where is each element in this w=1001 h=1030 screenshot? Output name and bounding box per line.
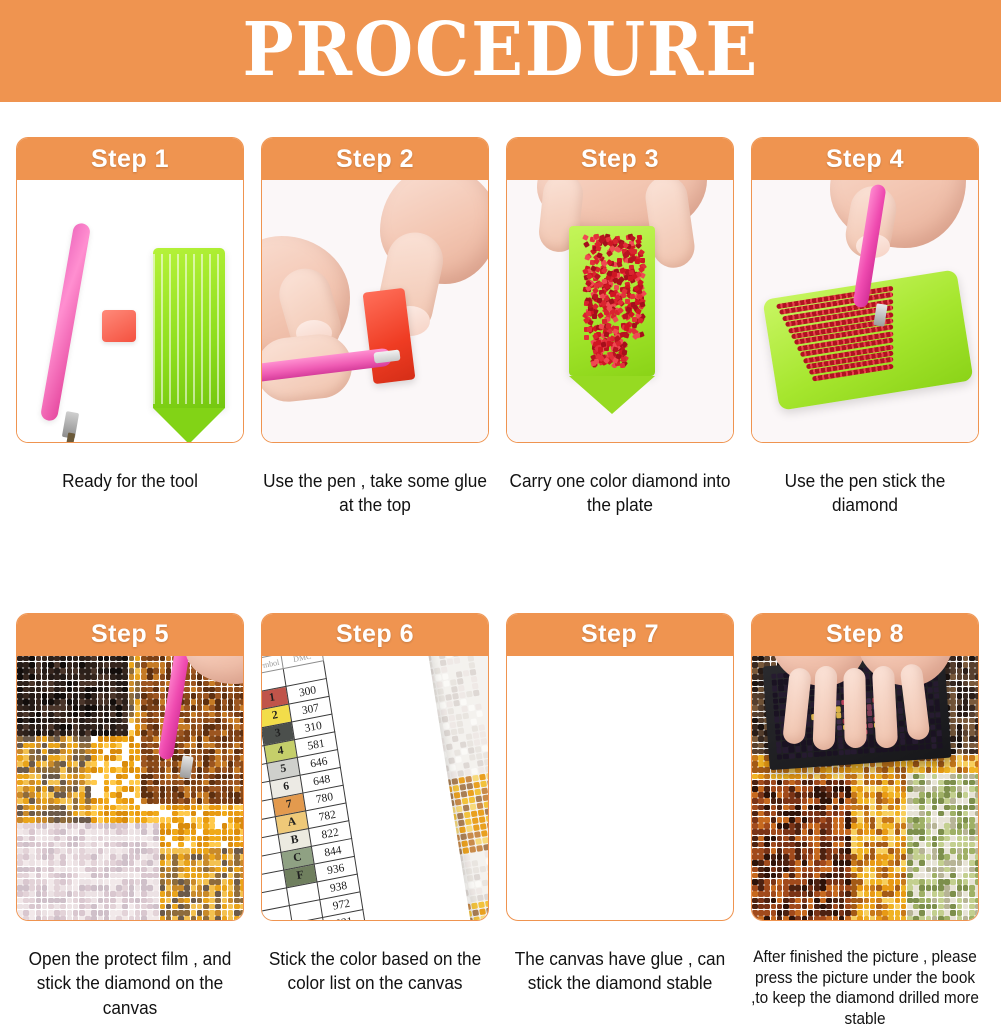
diamond-cell (42, 848, 48, 854)
canvas-cell (471, 725, 478, 732)
diamond-cell (771, 879, 777, 885)
diamond-cell (23, 681, 29, 687)
diamond-cell (913, 836, 919, 842)
diamond-cell (771, 891, 777, 897)
diamond-cell (783, 786, 789, 792)
diamond-cell (172, 860, 178, 866)
canvas-cell (461, 705, 468, 712)
diamond-cell (42, 755, 48, 761)
diamond-cell (209, 885, 215, 891)
diamond-cell (752, 681, 758, 687)
diamond-cell (48, 805, 54, 811)
page-title: PROCEDURE (242, 13, 759, 87)
diamond-cell (752, 656, 758, 662)
diamond-cell (36, 805, 42, 811)
diamond-cell (129, 687, 135, 693)
diamond-cell (771, 798, 777, 804)
diamond-cell (67, 712, 73, 718)
step-7-header: Step 7 (507, 614, 733, 656)
diamond-cell (85, 867, 91, 873)
diamond-cell (23, 836, 29, 842)
diamond-cell (833, 854, 839, 860)
diamond-cell (160, 910, 166, 916)
canvas-cell (483, 886, 488, 893)
diamond-cell (814, 805, 820, 811)
diamond-cell (23, 668, 29, 674)
diamond-cell (203, 724, 209, 730)
diamond-cell (864, 836, 870, 842)
diamond-cell (764, 867, 770, 873)
diamond-cell (932, 811, 938, 817)
diamond-cell (91, 662, 97, 668)
diamond-cell (29, 898, 35, 904)
diamond-cell (184, 687, 190, 693)
canvas-cell (481, 830, 488, 837)
diamond-cell (222, 693, 228, 699)
diamond-cell (17, 699, 23, 705)
diamond-cell (228, 823, 234, 829)
diamond-cell (888, 792, 894, 798)
diamond-cell (919, 848, 925, 854)
diamond-cell (91, 730, 97, 736)
diamond-cell (166, 867, 172, 873)
diamond-cell (110, 829, 116, 835)
diamond-cell (197, 718, 203, 724)
diamond-cell (178, 898, 184, 904)
diamond-cell (141, 755, 147, 761)
diamond-cell (73, 656, 79, 662)
diamond-cell (191, 898, 197, 904)
canvas-cell (467, 740, 474, 747)
diamond-cell (122, 891, 128, 897)
diamond-cell (197, 860, 203, 866)
diamond-cell (240, 879, 243, 885)
diamond-cell (48, 891, 54, 897)
diamond-cell (802, 786, 808, 792)
canvas-cell (464, 769, 471, 776)
diamond-cell (122, 718, 128, 724)
diamond-cell (147, 780, 153, 786)
canvas-cell (472, 682, 479, 689)
diamond-cell (814, 885, 820, 891)
diamond-cell (938, 817, 944, 823)
diamond-cell (91, 811, 97, 817)
diamond-cell (963, 879, 969, 885)
diamond-cell (926, 842, 932, 848)
step-card-4: Step 4 Use the pen stick the diamond (751, 137, 979, 518)
diamond-cell (950, 867, 956, 873)
diamond-cell (178, 811, 184, 817)
diamond-cell (963, 811, 969, 817)
diamond-cell (820, 836, 826, 842)
diamond-cell (23, 786, 29, 792)
step-4-illustration (752, 180, 978, 442)
step-8-card: Step 8 (751, 613, 979, 921)
diamond-cell (184, 873, 190, 879)
diamond-cell (42, 798, 48, 804)
diamond-cell (771, 805, 777, 811)
diamond-cell (203, 879, 209, 885)
diamond-cell (963, 693, 969, 699)
diamond-cell (215, 687, 221, 693)
diamond-cell (129, 842, 135, 848)
diamond-cell (932, 767, 938, 773)
diamond-cell (104, 904, 110, 910)
canvas-cell (486, 772, 488, 779)
step-7-wrap: Step 7 (507, 614, 733, 656)
diamond-cell (975, 805, 978, 811)
step-6-card: Step 6 SerialSymbolDMC121300323074331054… (261, 613, 489, 921)
diamond-cell (758, 867, 764, 873)
diamond-cell (153, 674, 159, 680)
diamond-cell (79, 718, 85, 724)
diamond-cell (808, 836, 814, 842)
diamond-cell (839, 842, 845, 848)
diamond-cell (147, 687, 153, 693)
diamond-cell (771, 780, 777, 786)
diamond-cell (857, 879, 863, 885)
diamond-cell (228, 730, 234, 736)
diamond-cell (23, 693, 29, 699)
diamond-cell (135, 829, 141, 835)
canvas-cell (461, 791, 468, 798)
diamond-cell (228, 898, 234, 904)
diamond-cell (36, 910, 42, 916)
diamond-cell (116, 786, 122, 792)
step-7-caption: The canvas have glue , can stick the dia… (506, 947, 735, 996)
diamond-cell (135, 848, 141, 854)
diamond-cell (777, 842, 783, 848)
diamond-cell (122, 743, 128, 749)
diamond-cell (135, 767, 141, 773)
diamond-cell (938, 873, 944, 879)
diamond-cell (938, 867, 944, 873)
diamond-cell (23, 662, 29, 668)
diamond-cell (141, 792, 147, 798)
diamond-cell (950, 854, 956, 860)
diamond-cell (36, 885, 42, 891)
diamond-cell (141, 910, 147, 916)
diamond-cell (234, 749, 240, 755)
diamond-cell (240, 699, 243, 705)
diamond-cell (147, 898, 153, 904)
diamond-cell (104, 848, 110, 854)
diamond-cell (141, 681, 147, 687)
diamond-cell (969, 836, 975, 842)
diamond-cell (17, 712, 23, 718)
diamond-cell (141, 687, 147, 693)
diamond-cell (172, 891, 178, 897)
diamond-cell (857, 798, 863, 804)
diamond-cell (23, 699, 29, 705)
diamond-cell (795, 780, 801, 786)
diamond-cell (166, 873, 172, 879)
diamond-cell (963, 767, 969, 773)
diamond-cell (42, 904, 48, 910)
diamond-cell (91, 674, 97, 680)
diamond-cell (60, 854, 66, 860)
diamond-cell (222, 867, 228, 873)
diamond-cell (944, 823, 950, 829)
diamond-cell (166, 767, 172, 773)
canvas-cell (470, 761, 477, 768)
diamond-cell (36, 705, 42, 711)
loose-diamonds-icon (577, 232, 647, 368)
canvas-cell (463, 854, 470, 861)
diamond-cell (926, 805, 932, 811)
diamond-cell (29, 761, 35, 767)
diamond-cell (17, 898, 23, 904)
diamond-cell (802, 885, 808, 891)
canvas-cell (479, 865, 486, 872)
diamond-cell (29, 904, 35, 910)
diamond-cell (870, 767, 876, 773)
diamond-cell (184, 904, 190, 910)
diamond-cell (23, 674, 29, 680)
diamond-cell (758, 718, 764, 724)
diamond-cell (857, 811, 863, 817)
diamond-cell (191, 774, 197, 780)
diamond-cell (141, 718, 147, 724)
diamond-cell (73, 674, 79, 680)
diamond-cell (209, 848, 215, 854)
diamond-cell (79, 786, 85, 792)
diamond-cell (808, 823, 814, 829)
diamond-cell (975, 842, 978, 848)
diamond-cell (135, 854, 141, 860)
diamond-cell (882, 780, 888, 786)
diamond-cell (23, 811, 29, 817)
diamond-cell (926, 786, 932, 792)
diamond-cell (17, 829, 23, 835)
diamond-cell (191, 823, 197, 829)
diamond-cell (845, 798, 851, 804)
diamond-cell (23, 730, 29, 736)
step-card-8: Step 8 After finished the picture , plea… (751, 613, 979, 1030)
diamond-cell (895, 867, 901, 873)
diamond-cell (209, 792, 215, 798)
diamond-cell (240, 755, 243, 761)
diamond-cell (808, 780, 814, 786)
diamond-cell (222, 730, 228, 736)
diamond-cell (104, 885, 110, 891)
diamond-cell (795, 891, 801, 897)
diamond-cell (876, 879, 882, 885)
diamond-cell (54, 767, 60, 773)
diamond-cell (950, 767, 956, 773)
diamond-cell (950, 829, 956, 835)
diamond-cell (907, 842, 913, 848)
diamond-cell (895, 774, 901, 780)
diamond-cell (191, 736, 197, 742)
diamond-cell (957, 761, 963, 767)
diamond-cell (833, 873, 839, 879)
diamond-cell (851, 885, 857, 891)
diamond-cell (153, 662, 159, 668)
diamond-cell (197, 867, 203, 873)
diamond-cell (752, 798, 758, 804)
diamond-cell (833, 798, 839, 804)
diamond-cell (23, 867, 29, 873)
diamond-cell (228, 879, 234, 885)
diamond-cell (116, 743, 122, 749)
diamond-cell (215, 904, 221, 910)
diamond-cell (752, 730, 758, 736)
diamond-cell (209, 817, 215, 823)
diamond-cell (203, 699, 209, 705)
diamond-cell (240, 718, 243, 724)
diamond-cell (42, 867, 48, 873)
diamond-cell (963, 854, 969, 860)
diamond-cell (771, 786, 777, 792)
diamond-cell (826, 867, 832, 873)
diamond-cell (23, 910, 29, 916)
canvas-cell (482, 837, 488, 844)
diamond-cell (777, 848, 783, 854)
diamond-cell (752, 885, 758, 891)
diamond-cell (882, 817, 888, 823)
diamond-cell (975, 767, 978, 773)
diamond-cell (141, 699, 147, 705)
diamond-cell (67, 885, 73, 891)
diamond-cell (98, 811, 104, 817)
diamond-cell (116, 873, 122, 879)
diamond-cell (938, 774, 944, 780)
diamond-cell (870, 891, 876, 897)
diamond-cell (172, 823, 178, 829)
diamond-cell (48, 879, 54, 885)
diamond-cell (864, 829, 870, 835)
diamond-cell (209, 724, 215, 730)
diamond-drill (625, 299, 630, 304)
diamond-cell (758, 854, 764, 860)
diamond-cell (826, 823, 832, 829)
step-2-image (262, 180, 488, 442)
diamond-cell (901, 811, 907, 817)
diamond-cell (116, 792, 122, 798)
diamond-cell (957, 829, 963, 835)
diamond-cell (203, 730, 209, 736)
diamond-cell (215, 879, 221, 885)
diamond-cell (54, 916, 60, 920)
diamond-cell (938, 860, 944, 866)
diamond-cell (222, 712, 228, 718)
diamond-cell (197, 811, 203, 817)
diamond-cell (60, 780, 66, 786)
diamond-cell (36, 761, 42, 767)
diamond-cell (228, 724, 234, 730)
diamond-cell (36, 916, 42, 920)
canvas-cell (462, 797, 469, 804)
canvas-cell (449, 764, 456, 771)
canvas-cell (456, 763, 463, 770)
diamond-cell (957, 668, 963, 674)
canvas-cell (473, 732, 480, 739)
diamond-cell (184, 898, 190, 904)
diamond-cell (963, 718, 969, 724)
diamond-cell (91, 836, 97, 842)
diamond-cell (882, 860, 888, 866)
diamond-cell (42, 656, 48, 662)
diamond-cell (191, 873, 197, 879)
canvas-cell (485, 765, 488, 772)
diamond-cell (203, 811, 209, 817)
diamond-cell (122, 885, 128, 891)
diamond-cell (110, 705, 116, 711)
diamond-cell (932, 805, 938, 811)
diamond-cell (795, 805, 801, 811)
diamond-cell (882, 885, 888, 891)
diamond-cell (228, 712, 234, 718)
diamond-cell (907, 860, 913, 866)
diamond-cell (73, 705, 79, 711)
diamond-cell (178, 736, 184, 742)
diamond-cell (172, 755, 178, 761)
diamond-cell (135, 842, 141, 848)
diamond-cell (820, 786, 826, 792)
diamond-cell (73, 718, 79, 724)
diamond-cell (147, 798, 153, 804)
diamond-cell (116, 798, 122, 804)
diamond-cell (938, 811, 944, 817)
diamond-cell (957, 687, 963, 693)
diamond-cell (975, 860, 978, 866)
diamond-cell (820, 854, 826, 860)
diamond-cell (160, 836, 166, 842)
diamond-cell (91, 774, 97, 780)
canvas-cell (447, 708, 454, 715)
diamond-cell (36, 767, 42, 773)
diamond-cell (752, 829, 758, 835)
diamond-cell (926, 848, 932, 854)
canvas-cell (474, 739, 481, 746)
diamond-cell (166, 780, 172, 786)
diamond-cell (116, 724, 122, 730)
canvas-cell (468, 662, 475, 669)
diamond-cell (771, 860, 777, 866)
diamond-cell (870, 774, 876, 780)
diamond-cell (29, 699, 35, 705)
diamond-cell (129, 699, 135, 705)
diamond-cell (764, 823, 770, 829)
diamond-cell (104, 873, 110, 879)
diamond-cell (122, 780, 128, 786)
diamond-cell (203, 805, 209, 811)
diamond-cell (166, 792, 172, 798)
diamond-cell (54, 910, 60, 916)
diamond-cell (907, 798, 913, 804)
diamond-cell (122, 836, 128, 842)
diamond-cell (203, 916, 209, 920)
step-3-header: Step 3 (507, 138, 733, 180)
diamond-cell (116, 780, 122, 786)
diamond-drill (603, 331, 609, 337)
step-4-image (752, 180, 978, 442)
diamond-cell (814, 891, 820, 897)
diamond-cell (864, 842, 870, 848)
diamond-cell (122, 860, 128, 866)
diamond-cell (116, 836, 122, 842)
diamond-cell (882, 836, 888, 842)
diamond-cell (91, 898, 97, 904)
diamond-cell (135, 904, 141, 910)
diamond-cell (209, 693, 215, 699)
diamond-cell (122, 755, 128, 761)
diamond-cell (957, 836, 963, 842)
diamond-cell (203, 693, 209, 699)
diamond-cell (23, 774, 29, 780)
diamond-cell (752, 761, 758, 767)
